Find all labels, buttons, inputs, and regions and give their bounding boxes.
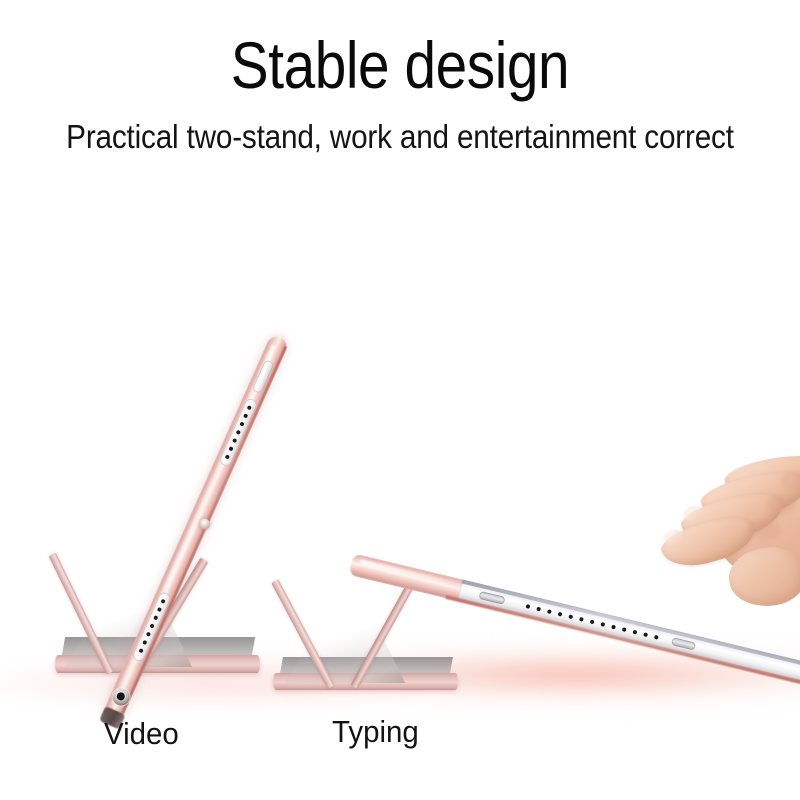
product-marketing-image: Stable design Practical two-stand, work … bbox=[0, 0, 800, 800]
hand-knuckle bbox=[767, 494, 797, 514]
typing-hand bbox=[655, 462, 800, 647]
hand-knuckle bbox=[751, 520, 781, 540]
caption-typing: Typing bbox=[332, 714, 419, 750]
page-title: Stable design bbox=[56, 28, 744, 102]
caption-video: Video bbox=[104, 716, 179, 752]
page-subtitle: Practical two-stand, work and entertainm… bbox=[40, 117, 760, 157]
